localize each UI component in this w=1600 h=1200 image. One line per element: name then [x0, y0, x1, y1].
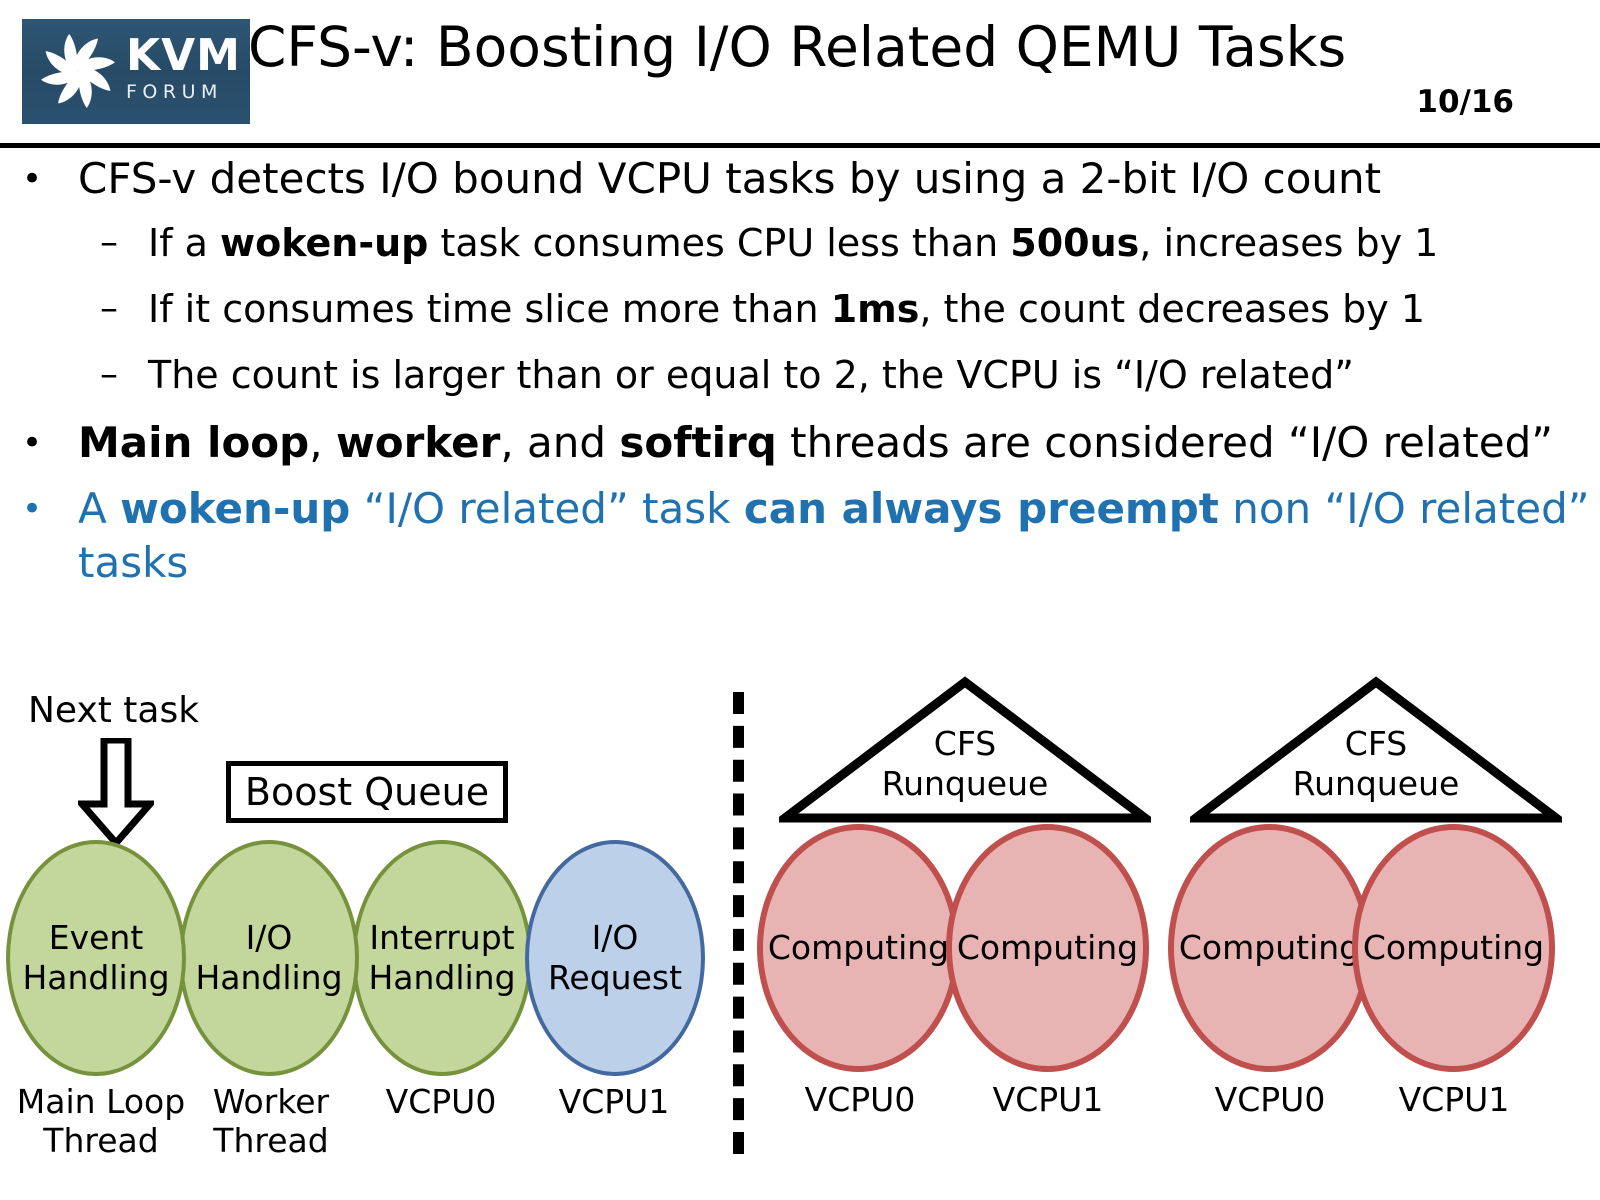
ellipse-label-line2: Handling [368, 958, 515, 998]
caption-line1: Main Loop [8, 1082, 194, 1121]
task-ellipse-interrupt-handling: Interrupt Handling [352, 840, 532, 1076]
ellipse-label-line1: I/O [195, 918, 342, 958]
bullet-2-part-1: , [309, 418, 336, 467]
sub-1-part-1: If a [148, 221, 220, 265]
sub-bullet-item-1: – If a woken-up task consumes CPU less t… [0, 218, 1600, 268]
boost-queue-box: Boost Queue [226, 761, 508, 823]
runqueue-label-line1: CFS [779, 724, 1151, 764]
vcpu-caption-1: VCPU0 [760, 1080, 960, 1119]
thread-caption-vcpu1: VCPU1 [528, 1082, 700, 1121]
sub-1-part-2: task consumes CPU less than [428, 221, 1010, 265]
thread-caption-vcpu0: VCPU0 [356, 1082, 526, 1121]
caption-line2: Thread [8, 1121, 194, 1160]
task-ellipse-io-handling: I/O Handling [179, 840, 359, 1076]
ellipse-label: Computing [1363, 928, 1544, 968]
bullet-2-part-2: , and [500, 418, 619, 467]
ellipse-label-line2: Handling [22, 958, 169, 998]
bullet-marker: • [22, 482, 42, 536]
slide-page-number: 10/16 [1416, 84, 1514, 120]
vcpu-ellipse-computing-4: Computing [1352, 824, 1555, 1072]
bullet-marker: • [22, 152, 42, 206]
logo-kvm-text: KVM [126, 33, 246, 79]
next-task-arrow-icon [78, 738, 154, 846]
vcpu-caption-2: VCPU1 [948, 1080, 1148, 1119]
sub-bullet-item-2: – If it consumes time slice more than 1m… [0, 284, 1600, 334]
caption-line2: Thread [186, 1121, 356, 1160]
task-ellipse-event-handling: Event Handling [6, 840, 186, 1076]
bullet-3-bold-2: can always preempt [744, 484, 1219, 533]
boost-queue-label: Boost Queue [245, 770, 489, 814]
ellipse-label-line2: Request [548, 958, 682, 998]
caption-line1: Worker [186, 1082, 356, 1121]
header-divider [0, 143, 1600, 148]
cfs-runqueue-triangle-2: CFS Runqueue [1190, 676, 1562, 824]
sub-bullet-marker: – [100, 218, 118, 268]
sub-bullet-marker: – [100, 350, 118, 400]
sub-1-bold-2: 500us [1010, 221, 1139, 265]
bullet-3-bold-1: woken-up [120, 484, 350, 533]
slide-header: KVM FORUM CFS-v: Boosting I/O Related QE… [0, 0, 1600, 146]
kvm-pinwheel-icon [34, 27, 122, 115]
ellipse-label-line2: Handling [195, 958, 342, 998]
ellipse-label: Computing [957, 928, 1138, 968]
bullet-3-part-2: “I/O related” task [350, 484, 743, 533]
sub-1-part-3: , increases by 1 [1139, 221, 1438, 265]
vcpu-ellipse-computing-2: Computing [946, 824, 1149, 1072]
ellipse-label-line1: Interrupt [368, 918, 515, 958]
logo-forum-text: FORUM [126, 81, 246, 103]
ellipse-label: Computing [1179, 928, 1360, 968]
bullet-2-bold-2: worker [336, 418, 500, 467]
thread-caption-worker: Worker Thread [186, 1082, 356, 1160]
next-task-label: Next task [28, 690, 199, 731]
bullet-1-text: CFS-v detects I/O bound VCPU tasks by us… [78, 154, 1381, 203]
ellipse-label-line1: Event [22, 918, 169, 958]
bullet-list: • CFS-v detects I/O bound VCPU tasks by … [0, 152, 1600, 602]
caption-line1: VCPU0 [356, 1082, 526, 1121]
vcpu-caption-3: VCPU0 [1170, 1080, 1370, 1119]
bullet-2-bold-3: softirq [619, 418, 776, 467]
runqueue-label-line2: Runqueue [779, 764, 1151, 804]
caption-line1: VCPU1 [528, 1082, 700, 1121]
kvm-forum-logo: KVM FORUM [22, 19, 250, 124]
vcpu-caption-4: VCPU1 [1354, 1080, 1554, 1119]
bullet-2-part-3: threads are considered “I/O related” [777, 418, 1553, 467]
thread-caption-main-loop: Main Loop Thread [8, 1082, 194, 1160]
task-ellipse-io-request: I/O Request [525, 840, 705, 1076]
sub-bullet-marker: – [100, 284, 118, 334]
logo-wordmark: KVM FORUM [126, 33, 246, 103]
vcpu-ellipse-computing-3: Computing [1168, 824, 1371, 1072]
sub-1-bold-1: woken-up [220, 221, 428, 265]
sub-2-part-2: , the count decreases by 1 [919, 287, 1425, 331]
sub-2-bold-1: 1ms [831, 287, 920, 331]
sub-2-part-1: If it consumes time slice more than [148, 287, 831, 331]
page-title: CFS-v: Boosting I/O Related QEMU Tasks [248, 12, 1346, 82]
bullet-item-1: • CFS-v detects I/O bound VCPU tasks by … [0, 152, 1600, 206]
bullet-3-part-1: A [78, 484, 120, 533]
sub-bullet-item-3: – The count is larger than or equal to 2… [0, 350, 1600, 400]
diagram-divider [733, 692, 744, 1154]
bullet-item-2: • Main loop, worker, and softirq threads… [0, 416, 1600, 470]
scheduling-diagram: Next task Boost Queue Event Handling I/O… [0, 676, 1600, 1200]
ellipse-label: Computing [768, 928, 949, 968]
runqueue-label-line1: CFS [1190, 724, 1562, 764]
vcpu-ellipse-computing-1: Computing [757, 824, 960, 1072]
sub-3-text: The count is larger than or equal to 2, … [148, 353, 1354, 397]
runqueue-label-line2: Runqueue [1190, 764, 1562, 804]
bullet-2-bold-1: Main loop [78, 418, 309, 467]
ellipse-label-line1: I/O [548, 918, 682, 958]
cfs-runqueue-triangle-1: CFS Runqueue [779, 676, 1151, 824]
bullet-item-3: • A woken-up “I/O related” task can alwa… [0, 482, 1600, 590]
bullet-marker: • [22, 416, 42, 470]
